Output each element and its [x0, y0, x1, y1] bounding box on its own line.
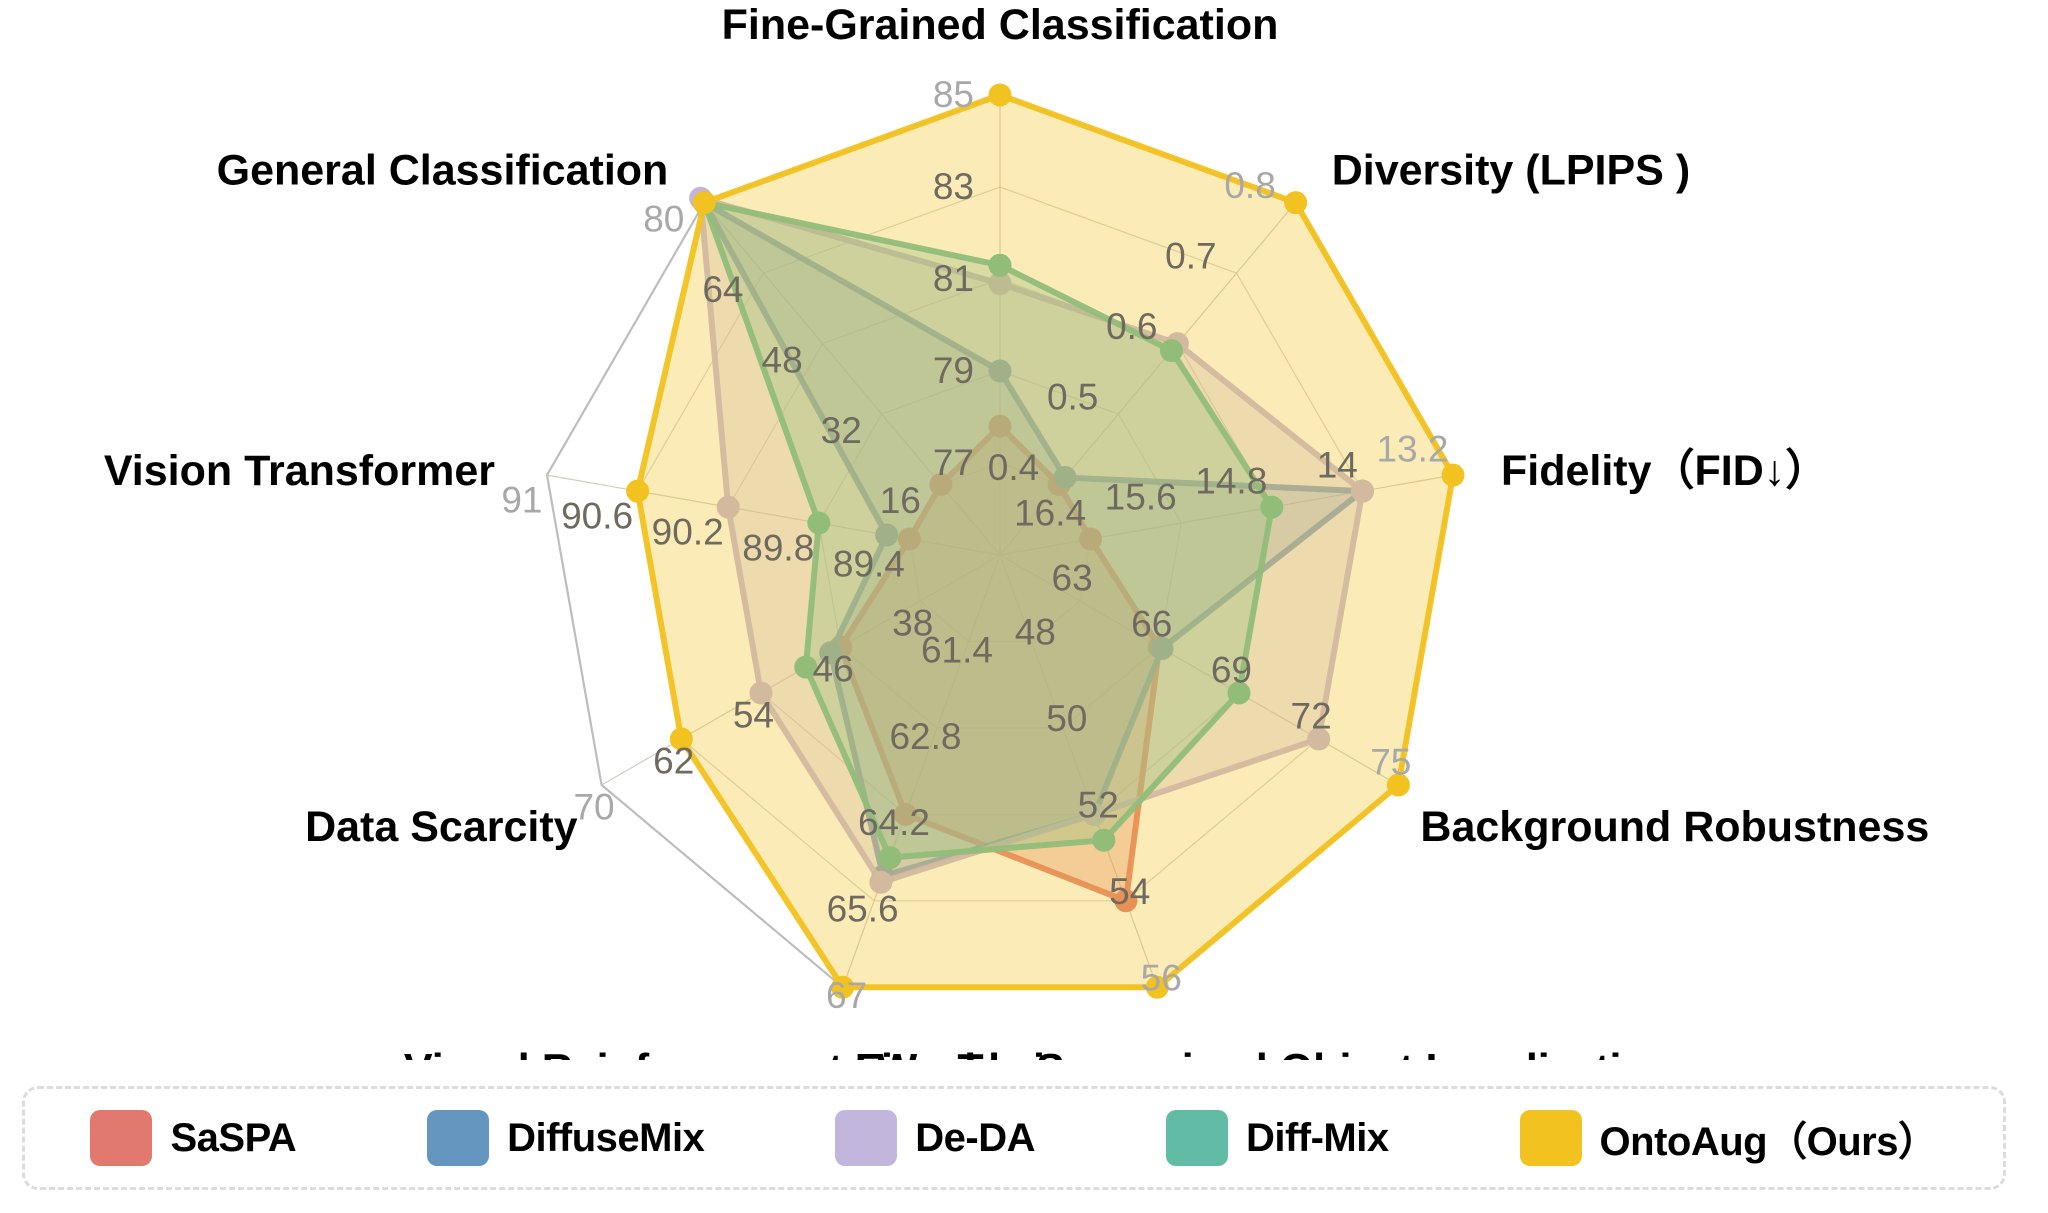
legend-item[interactable]: DiffuseMix: [427, 1110, 704, 1166]
axis-tick-label: 62.8: [889, 716, 961, 757]
axis-tick-label: 83: [933, 166, 974, 207]
legend-item[interactable]: OntoAug（Ours）: [1520, 1109, 1938, 1167]
axis-tick-label: 90.2: [652, 512, 724, 553]
axis-tick-label: 54: [733, 695, 774, 736]
axis-tick-label: 65.6: [827, 889, 899, 930]
axis-tick-label: 70: [573, 787, 614, 828]
axis-tick-label: 0.8: [1224, 165, 1275, 206]
axis-tick-label: 64: [702, 269, 743, 310]
radar-chart-svg: 77798183850.40.50.60.70.816.415.614.8141…: [0, 0, 2048, 1060]
radar-chart-canvas: 77798183850.40.50.60.70.816.415.614.8141…: [0, 0, 2048, 1060]
legend-swatch: [835, 1110, 897, 1166]
axis-tick-label: 0.5: [1047, 376, 1098, 417]
axis-tick-label: 62: [653, 741, 694, 782]
axis-tick-label: 13.2: [1376, 429, 1448, 470]
axis-tick-label: 48: [762, 339, 803, 380]
legend-label: SaSPA: [170, 1116, 296, 1161]
axis-tick-label: 77: [933, 442, 974, 483]
radar-data-point[interactable]: [693, 192, 715, 214]
axis-tick-label: 67: [826, 975, 867, 1016]
legend-item[interactable]: Diff-Mix: [1166, 1110, 1389, 1166]
axis-tick-label: 81: [933, 258, 974, 299]
legend-swatch: [90, 1110, 152, 1166]
axis-title-4: Background Robustness: [1420, 803, 1929, 851]
axis-tick-label: 0.4: [988, 447, 1039, 488]
axis-tick-label: 16.4: [1014, 492, 1086, 533]
legend-swatch: [427, 1110, 489, 1166]
axis-tick-label: 85: [933, 74, 974, 115]
axis-title-1: Fine-Grained Classification: [722, 1, 1279, 49]
chart-legend: SaSPADiffuseMixDe-DADiff-MixOntoAug（Ours…: [22, 1086, 2006, 1190]
axis-tick-label: 66: [1131, 604, 1172, 645]
legend-item[interactable]: De-DA: [835, 1110, 1035, 1166]
legend-label: De-DA: [915, 1116, 1035, 1161]
axis-title-8: Vision Transformer: [104, 447, 495, 495]
radar-data-point[interactable]: [989, 84, 1011, 106]
axis-tick-label: 38: [892, 603, 933, 644]
axis-tick-label: 75: [1370, 742, 1411, 783]
axis-tick-label: 16: [880, 480, 921, 521]
axis-tick-label: 91: [501, 480, 542, 521]
axis-tick-label: 90.6: [561, 496, 633, 537]
axis-tick-label: 63: [1052, 558, 1093, 599]
axis-tick-label: 0.7: [1165, 235, 1216, 276]
axis-tick-label: 15.6: [1105, 476, 1177, 517]
axis-tick-label: 64.2: [858, 802, 930, 843]
radar-chart-page: 77798183850.40.50.60.70.816.415.614.8141…: [0, 0, 2048, 1213]
axis-tick-label: 54: [1109, 871, 1150, 912]
axis-title-6: Visual Reinforcement Fine-Tuning: [404, 1045, 1098, 1060]
axis-tick-label: 79: [933, 350, 974, 391]
axis-title-9: General Classification: [217, 147, 669, 195]
legend-item[interactable]: SaSPA: [90, 1110, 296, 1166]
legend-label: Diff-Mix: [1246, 1116, 1389, 1161]
axis-tick-label: 89.8: [742, 528, 814, 569]
axis-tick-label: 72: [1291, 696, 1332, 737]
legend-label: DiffuseMix: [507, 1116, 704, 1161]
axis-tick-label: 52: [1078, 785, 1119, 826]
axis-tick-label: 50: [1046, 698, 1087, 739]
axis-tick-label: 0.6: [1106, 306, 1157, 347]
axis-tick-label: 48: [1015, 612, 1056, 653]
axis-tick-label: 14: [1317, 445, 1358, 486]
axis-tick-label: 32: [821, 410, 862, 451]
axis-title-7: Data Scarcity: [305, 803, 578, 851]
legend-swatch: [1520, 1110, 1582, 1166]
axis-tick-label: 69: [1211, 650, 1252, 691]
axis-tick-label: 56: [1141, 957, 1182, 998]
axis-tick-label: 14.8: [1195, 461, 1267, 502]
axis-title-2: Diversity (LPIPS ): [1332, 147, 1690, 195]
axis-tick-label: 89.4: [833, 544, 905, 585]
axis-title-3: Fidelity（FID↓）: [1501, 447, 1828, 495]
radar-data-point[interactable]: [1285, 192, 1307, 214]
legend-swatch: [1166, 1110, 1228, 1166]
legend-label: OntoAug（Ours）: [1600, 1109, 1938, 1167]
axis-tick-label: 80: [643, 198, 684, 239]
axis-tick-label: 46: [813, 649, 854, 690]
